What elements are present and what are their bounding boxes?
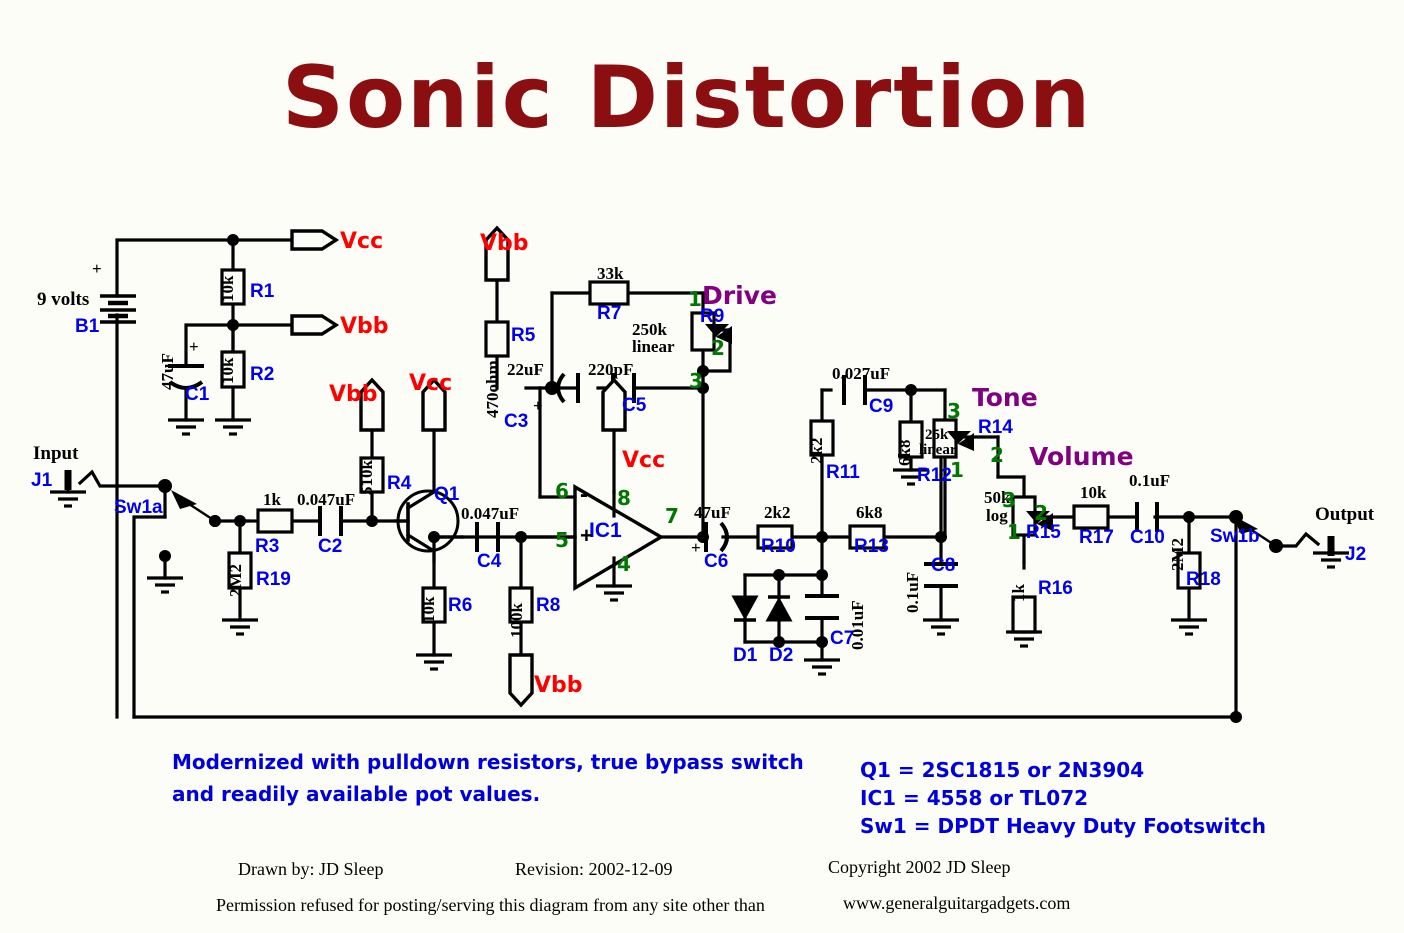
r9-lug2: 2 <box>711 336 725 360</box>
r7-value: 33k <box>597 264 623 284</box>
input-label: Input <box>33 443 78 465</box>
r14-lug2: 2 <box>990 443 1004 467</box>
battery-refdes: B1 <box>75 316 99 338</box>
schematic-page: Sonic Distortion 9 volts B1 + Vcc Vbb R1… <box>0 0 1404 933</box>
r14-lug1: 1 <box>950 458 964 482</box>
c3-value: 22uF <box>507 360 544 380</box>
r15-lug2: 2 <box>1034 501 1048 525</box>
r15-refdes: R15 <box>1026 522 1061 544</box>
r4-value: 510k <box>357 460 377 495</box>
c9-refdes: C9 <box>869 396 893 418</box>
r6-refdes: R6 <box>448 595 472 617</box>
r12-refdes: R12 <box>917 465 952 487</box>
r5-value: 470ohm <box>483 360 503 418</box>
footer-copyright: Copyright 2002 JD Sleep <box>828 857 1011 878</box>
vcc-flag-label: Vcc <box>340 229 383 254</box>
r16-refdes: R16 <box>1038 578 1073 600</box>
resistor-r5 <box>486 322 508 356</box>
note-right-line2: IC1 = 4558 or TL072 <box>860 786 1088 810</box>
c8-refdes: C8 <box>931 555 955 577</box>
c2-value: 0.047uF <box>297 490 355 510</box>
r14-lug3: 3 <box>947 399 961 423</box>
r7-refdes: R7 <box>597 303 621 325</box>
q1-refdes: Q1 <box>434 484 459 506</box>
r10-value: 2k2 <box>764 503 790 523</box>
ic1-pin7: 7 <box>665 504 679 528</box>
r5-refdes: R5 <box>511 325 535 347</box>
r4-refdes: R4 <box>387 473 411 495</box>
volume-label: Volume <box>1029 442 1134 471</box>
c6-value: 47uF <box>694 503 731 523</box>
r9-refdes: R9 <box>700 306 724 328</box>
r3-refdes: R3 <box>255 536 279 558</box>
c2-refdes: C2 <box>318 536 342 558</box>
note-right-line1: Q1 = 2SC1815 or 2N3904 <box>860 758 1144 782</box>
diode-symbols <box>734 597 790 620</box>
c6-refdes: C6 <box>704 551 728 573</box>
tone-label: Tone <box>972 383 1038 412</box>
r9-lug3: 3 <box>689 369 703 393</box>
c4-value: 0.047uF <box>461 504 519 524</box>
vbb-flag-r5-label: Vbb <box>480 231 529 256</box>
sw1b-refdes[interactable]: Sw1b <box>1210 526 1260 548</box>
page-title: Sonic Distortion <box>282 48 1092 148</box>
r1-refdes: R1 <box>250 281 274 303</box>
c3-polarity: + <box>533 396 543 416</box>
ic1-noninverting-sign: + <box>580 523 593 549</box>
footer-drawn-by: Drawn by: JD Sleep <box>238 859 383 880</box>
resistor-r17 <box>1074 506 1108 528</box>
c4-refdes: C4 <box>477 551 501 573</box>
ic1-refdes: IC1 <box>589 519 622 543</box>
r1-value: 10k <box>218 276 238 302</box>
r16-value: 1k <box>1009 584 1029 602</box>
note-left-line2: and readily available pot values. <box>172 782 540 806</box>
c5-refdes: C5 <box>622 395 646 417</box>
battery-label: 9 volts <box>37 289 89 311</box>
r14-value-line2: linear <box>919 442 957 459</box>
r14-refdes: R14 <box>978 417 1013 439</box>
vcc-flag-q1-label: Vcc <box>409 371 452 396</box>
footer-revision: Revision: 2002-12-09 <box>515 859 673 880</box>
vcc-flag-ic1-label: Vcc <box>622 448 665 473</box>
r2-refdes: R2 <box>250 364 274 386</box>
j2-refdes: J2 <box>1345 544 1366 566</box>
c1-polarity: + <box>189 337 199 357</box>
c7-value: 0.01uF <box>848 600 868 650</box>
r9-lug1: 1 <box>688 287 702 311</box>
j1-refdes: J1 <box>31 470 52 492</box>
output-label: Output <box>1315 504 1374 526</box>
ic1-pin4: 4 <box>617 552 631 576</box>
resistor-r3 <box>258 510 292 532</box>
ic1-pin5: 5 <box>555 528 569 552</box>
r18-refdes: R18 <box>1186 569 1221 591</box>
c10-refdes: C10 <box>1130 527 1165 549</box>
r8-refdes: R8 <box>536 595 560 617</box>
r10-refdes: R10 <box>761 536 796 558</box>
c8-value: 0.1uF <box>903 572 923 613</box>
r15-lug1: 1 <box>1007 520 1021 544</box>
r19-refdes: R19 <box>256 569 291 591</box>
r13-refdes: R13 <box>854 536 889 558</box>
footer-permission: Permission refused for posting/serving t… <box>216 895 765 916</box>
ic1-pin8: 8 <box>617 486 631 510</box>
r17-refdes: R17 <box>1079 527 1114 549</box>
vbb-flag-r8-label: Vbb <box>534 673 583 698</box>
r19-value: 2M2 <box>226 564 246 597</box>
d1-refdes: D1 <box>733 645 757 667</box>
r8-value: 100k <box>507 603 527 638</box>
r3-value: 1k <box>263 490 281 510</box>
resistor-r7 <box>590 282 628 304</box>
footer-website: www.generalguitargadgets.com <box>843 893 1070 914</box>
vbb-flag-label: Vbb <box>340 314 389 339</box>
r12-value: 6k8 <box>895 440 915 466</box>
c1-refdes: C1 <box>185 384 209 406</box>
ic1-pin6: 6 <box>555 479 569 503</box>
c5-value: 220pF <box>588 360 633 380</box>
c9-value: 0.027uF <box>832 364 890 384</box>
c10-value: 0.1uF <box>1129 471 1170 491</box>
rail-flags <box>292 228 625 705</box>
r9-value-line2: linear <box>632 337 675 357</box>
r17-value: 10k <box>1080 483 1106 503</box>
c1-value: 47uF <box>158 353 178 390</box>
vbb-flag-q1-label: Vbb <box>329 382 378 407</box>
sw1a-refdes[interactable]: Sw1a <box>114 497 163 519</box>
r13-value: 6k8 <box>856 503 882 523</box>
r11-refdes: R11 <box>826 462 860 484</box>
r15-lug3: 3 <box>1002 488 1016 512</box>
r2-value: 10k <box>218 358 238 384</box>
r18-value: 2M2 <box>1168 538 1188 571</box>
c3-refdes: C3 <box>504 411 528 433</box>
ic1-inverting-sign: - <box>580 481 588 509</box>
c6-polarity: + <box>691 538 701 558</box>
r6-value: 10k <box>419 597 439 623</box>
note-right-line3: Sw1 = DPDT Heavy Duty Footswitch <box>860 814 1266 838</box>
resistor-r16 <box>1013 597 1035 632</box>
battery-plus-sign: + <box>92 259 102 279</box>
r11-value: 2k2 <box>807 438 827 464</box>
battery-b1 <box>100 296 136 322</box>
d2-refdes: D2 <box>769 645 793 667</box>
note-left-line1: Modernized with pulldown resistors, true… <box>172 750 804 774</box>
